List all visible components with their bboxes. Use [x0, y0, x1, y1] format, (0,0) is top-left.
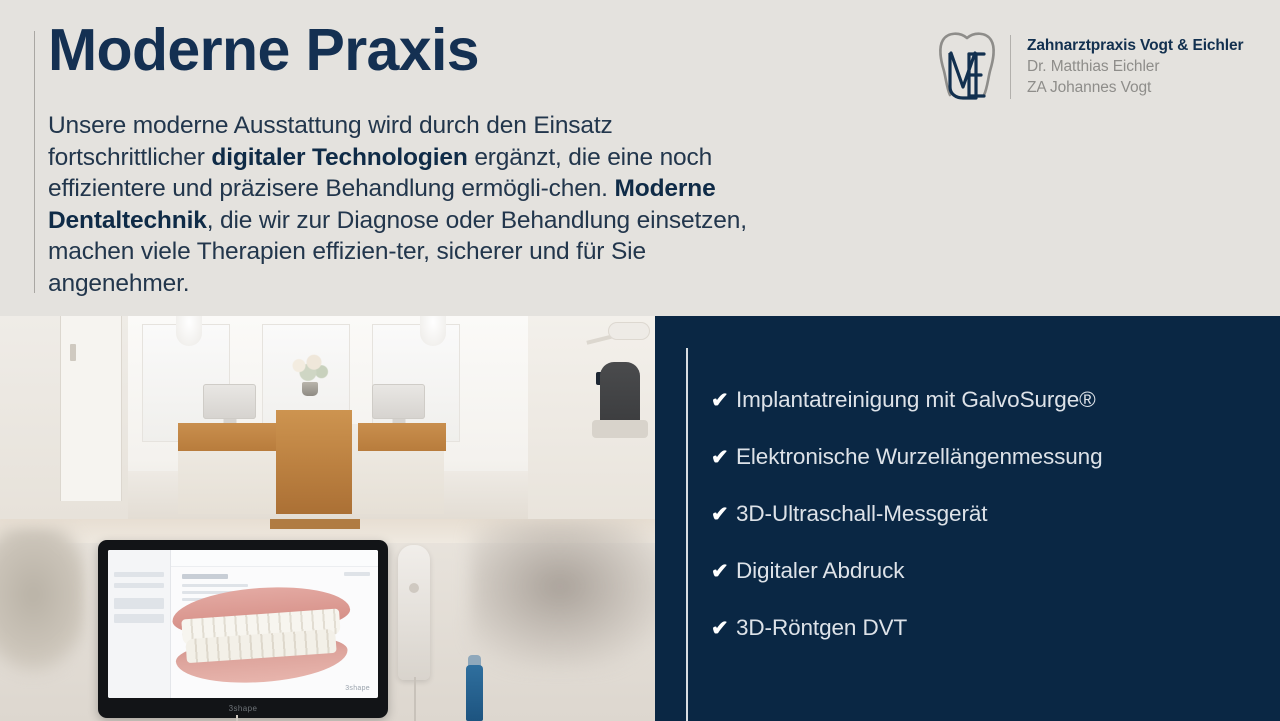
list-item[interactable]: ✔ 3D-Ultraschall-Messgerät [711, 486, 1271, 543]
treatment-lamp-head [608, 322, 650, 340]
scanner-ui-meta-1 [182, 584, 248, 587]
scanner-ui-chip-4 [114, 614, 164, 623]
list-item[interactable]: ✔ Implantatreinigung mit GalvoSurge® [711, 372, 1271, 429]
features-panel: ✔ Implantatreinigung mit GalvoSurge® ✔ E… [655, 316, 1280, 721]
list-item-label: Digitaler Abdruck [736, 559, 904, 584]
imac-monitor-left [203, 384, 256, 419]
shelf-wood-accent [270, 519, 360, 529]
foreground-blur-right [470, 519, 655, 669]
door-handle [70, 344, 76, 361]
intro-paragraph: Unsere moderne Ausstattung wird durch de… [48, 110, 748, 299]
list-item-label: 3D-Röntgen DVT [736, 616, 907, 641]
check-icon: ✔ [711, 618, 736, 639]
pendant-lamp-2 [420, 316, 446, 346]
header-section: Moderne Praxis Unsere moderne Ausstattun… [0, 0, 1280, 316]
intraoral-scanner-photo: 3shape 3shape [0, 519, 655, 721]
imac-monitor-right [372, 384, 425, 419]
logo-doctor-2: ZA Johannes Vogt [1027, 77, 1243, 98]
tooth-ve-monogram-icon [936, 31, 998, 103]
list-item[interactable]: ✔ 3D-Röntgen DVT [711, 600, 1271, 657]
bezel-brand-label: 3shape [98, 704, 388, 713]
counter-wood-left [178, 423, 278, 451]
blue-instrument [466, 665, 483, 721]
list-item[interactable]: ✔ Elektronische Wurzellängenmessung [711, 429, 1271, 486]
scanner-ui-patient-name [182, 574, 228, 579]
scanner-ui-chip-1 [114, 572, 164, 577]
monitor-cord [236, 715, 238, 721]
scanner-ui-chip-2 [114, 583, 164, 588]
foreground-blur-left [0, 527, 85, 677]
paragraph-seg-2-bold: digitaler Technologien [211, 144, 467, 171]
list-item[interactable]: ✔ Digitaler Abdruck [711, 543, 1271, 600]
counter-wood-right [358, 423, 446, 451]
check-icon: ✔ [711, 504, 736, 525]
flower-vase [302, 382, 318, 396]
list-item-label: Implantatreinigung mit GalvoSurge® [736, 388, 1096, 413]
logo-doctor-1: Dr. Matthias Eichler [1027, 56, 1243, 77]
panel-accent-rule [686, 348, 688, 721]
scanner-ui-right-meta [344, 572, 370, 576]
scanner-ui-chip-3 [114, 598, 164, 609]
flower-bouquet [284, 352, 334, 386]
header-accent-rule [34, 31, 35, 293]
logo-text-block: Zahnarztpraxis Vogt & Eichler Dr. Matthi… [1027, 36, 1243, 98]
screen-brand-label: 3shape [345, 685, 370, 692]
check-icon: ✔ [711, 390, 736, 411]
scanner-screen: 3shape [108, 550, 378, 698]
dental-3d-model [168, 588, 353, 684]
scanner-monitor: 3shape 3shape [98, 540, 388, 718]
check-icon: ✔ [711, 447, 736, 468]
page-title: Moderne Praxis [48, 21, 479, 80]
logo-divider [1010, 35, 1011, 99]
check-icon: ✔ [711, 561, 736, 582]
list-item-label: Elektronische Wurzellängenmessung [736, 445, 1102, 470]
slide-root: Moderne Praxis Unsere moderne Ausstattun… [0, 0, 1280, 721]
pendant-lamp-1 [176, 316, 202, 346]
list-item-label: 3D-Ultraschall-Messgerät [736, 502, 987, 527]
practice-logo[interactable]: Zahnarztpraxis Vogt & Eichler Dr. Matthi… [936, 29, 1243, 105]
reception-area-photo [0, 316, 655, 519]
scanner-wand-cord [414, 677, 416, 721]
treatment-chair-seat [592, 420, 648, 438]
photo-column: 3shape 3shape [0, 316, 655, 721]
counter-wood-center [276, 410, 352, 514]
features-checklist: ✔ Implantatreinigung mit GalvoSurge® ✔ E… [711, 372, 1271, 657]
scanner-wand [398, 545, 430, 680]
logo-practice-name: Zahnarztpraxis Vogt & Eichler [1027, 36, 1243, 56]
scanner-wand-button [409, 583, 419, 593]
